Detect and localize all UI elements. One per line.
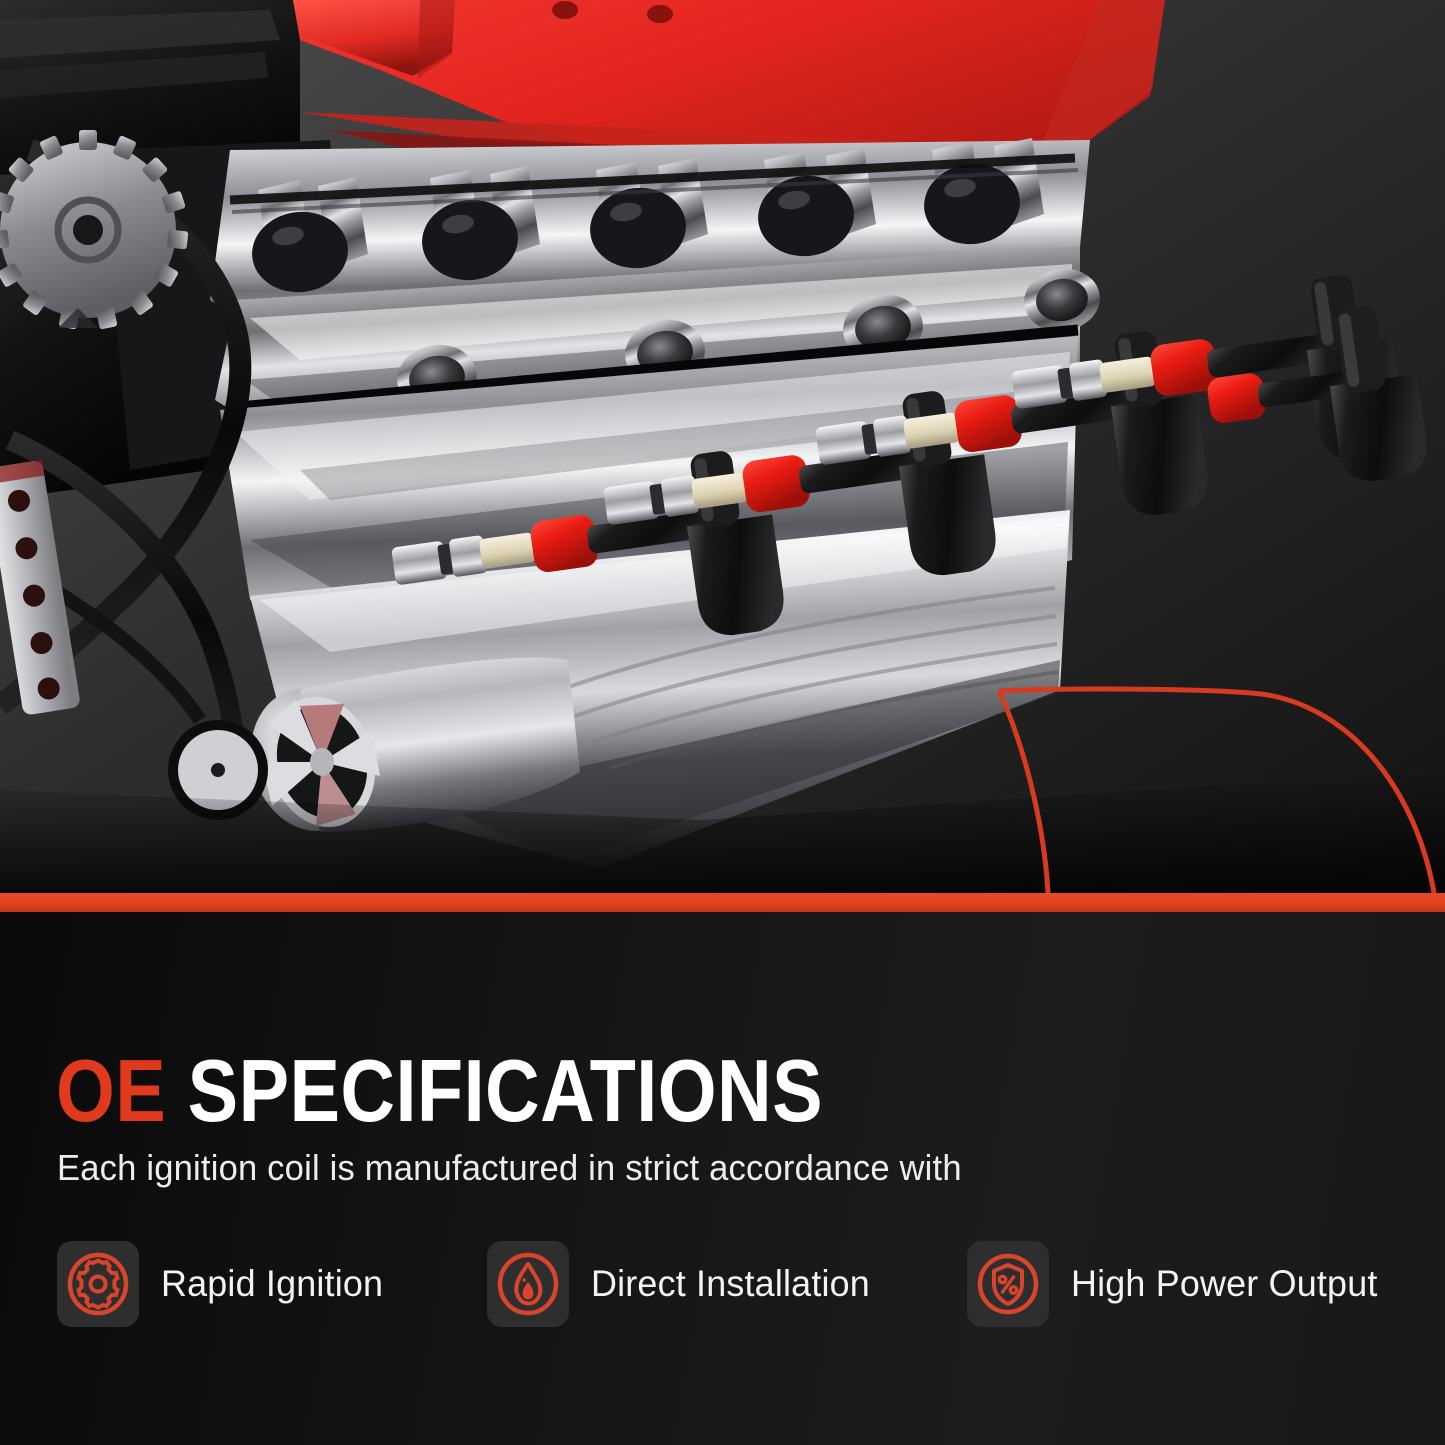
title-rest: SPECIFICATIONS xyxy=(166,1041,823,1140)
product-infographic: OE SPECIFICATIONS Each ignition coil is … xyxy=(0,0,1445,1445)
feature-item-rapid-ignition: Rapid Ignition xyxy=(57,1240,390,1328)
page-title: OE SPECIFICATIONS xyxy=(56,1047,823,1135)
flame-icon xyxy=(487,1241,569,1327)
feature-label: Rapid Ignition xyxy=(161,1263,383,1305)
feature-row: Rapid Ignition Direct Installation xyxy=(0,1240,1445,1335)
feature-item-high-power-output: High Power Output xyxy=(967,1240,1387,1328)
hero-engine-photo xyxy=(0,0,1445,893)
feature-item-direct-installation: Direct Installation xyxy=(487,1240,879,1328)
title-highlight: OE xyxy=(56,1041,166,1140)
gear-icon xyxy=(57,1241,139,1327)
engine-illustration xyxy=(0,0,1445,893)
shield-percent-icon xyxy=(967,1241,1049,1327)
feature-label: High Power Output xyxy=(1071,1263,1378,1305)
accent-divider-bar xyxy=(0,893,1445,912)
feature-label: Direct Installation xyxy=(591,1263,870,1305)
page-subtitle: Each ignition coil is manufactured in st… xyxy=(57,1150,962,1186)
